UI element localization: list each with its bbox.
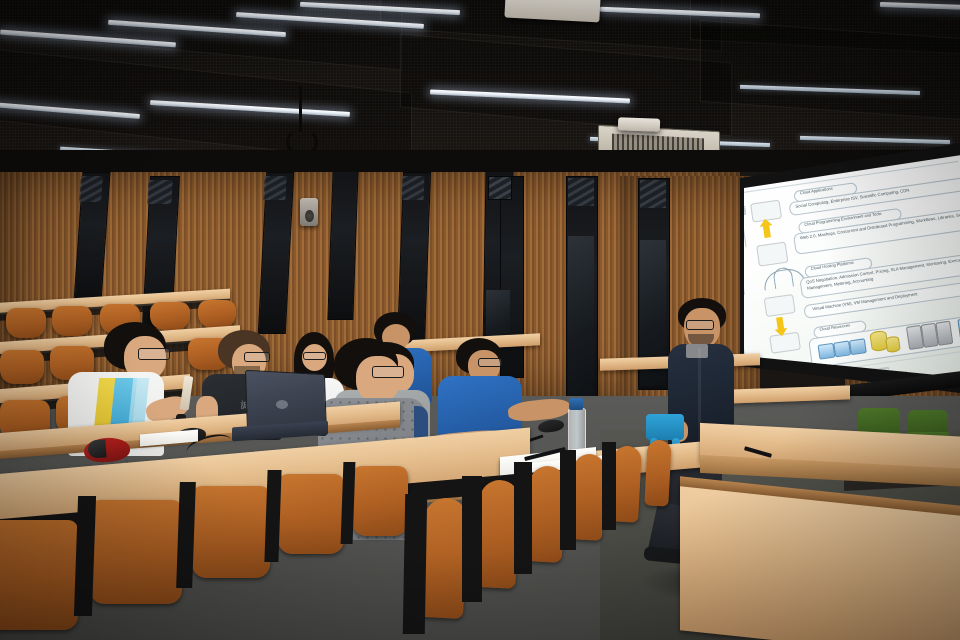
window-louvre — [488, 176, 512, 200]
student-1-glasses — [138, 348, 170, 360]
storage-array-icon — [849, 338, 867, 355]
seat-divider — [462, 476, 482, 602]
foreground-seat[interactable] — [0, 520, 78, 630]
window-glass — [568, 236, 594, 402]
seat-divider — [403, 494, 427, 634]
tier-seat[interactable] — [198, 300, 236, 328]
student-5-glasses — [372, 366, 404, 378]
ac-control-box — [618, 117, 660, 131]
student-5-face — [356, 356, 400, 402]
window-slot — [327, 168, 358, 320]
laptop-logo — [276, 400, 288, 409]
tier-seat[interactable] — [0, 350, 44, 384]
window-louvre — [263, 176, 286, 200]
window-louvre — [568, 178, 594, 206]
seat-divider — [602, 442, 616, 530]
seat-divider — [514, 462, 532, 574]
foreground-seat[interactable] — [352, 466, 408, 536]
presenter-glasses — [686, 320, 714, 330]
slide-layer-stub — [764, 294, 796, 317]
wall-speaker-cone — [305, 210, 314, 222]
student-2-glasses — [244, 352, 270, 362]
blue-stool[interactable] — [646, 414, 684, 440]
water-bottle[interactable] — [568, 408, 586, 454]
foreground-seat[interactable] — [90, 500, 182, 604]
gaming-mouse-body — [87, 439, 106, 458]
server-rack-icon — [935, 321, 953, 346]
lecture-hall-photo: Cloud Computing Architecture SaaS PaaS I… — [0, 0, 960, 640]
student-7-glasses — [478, 358, 502, 367]
database-cylinder-icon — [885, 335, 901, 353]
window-louvre — [147, 180, 172, 204]
foreground-seat[interactable] — [278, 474, 344, 554]
window-louvre — [79, 176, 103, 202]
seat-divider — [560, 450, 576, 550]
slide-layer-stub — [756, 241, 788, 266]
tier-seat[interactable] — [150, 302, 190, 330]
hanging-cable — [299, 86, 302, 132]
presenter-undershirt — [686, 344, 708, 358]
water-bottle-cap — [569, 398, 583, 410]
foreground-seat[interactable] — [192, 486, 270, 578]
folded-seat[interactable] — [644, 439, 671, 506]
slide-arrow-up-head — [759, 218, 773, 227]
student-3-glasses — [303, 352, 326, 360]
tier-seat[interactable] — [52, 306, 92, 336]
window-louvre — [402, 176, 425, 200]
tier-seat[interactable] — [6, 308, 46, 338]
window-louvre — [640, 180, 666, 208]
projection-screen: Cloud Computing Architecture SaaS PaaS I… — [726, 150, 960, 388]
